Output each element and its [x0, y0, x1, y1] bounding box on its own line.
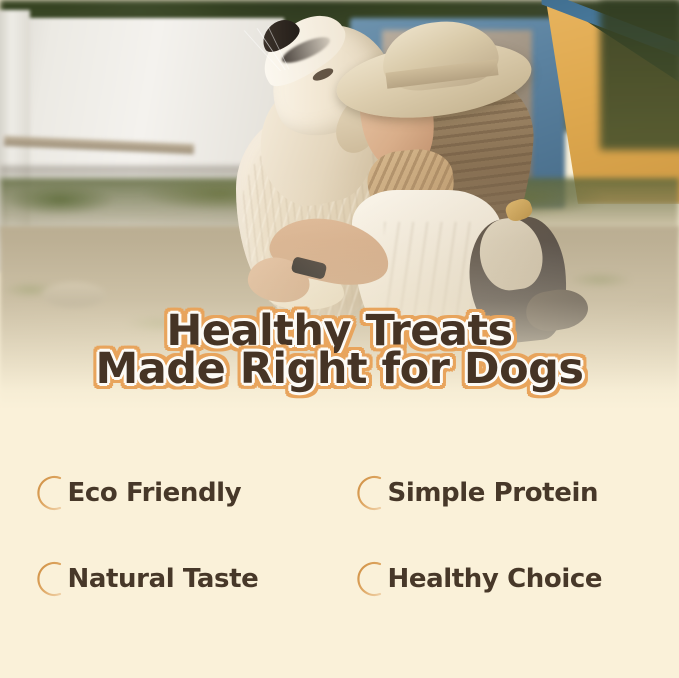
crescent-ring-icon	[350, 556, 390, 602]
headline-line-2: Made Right for Dogs	[0, 350, 679, 390]
promo-banner: Healthy Treats Made Right for Dogs Eco	[0, 0, 679, 678]
feature-item-healthy-choice: Healthy Choice	[350, 536, 650, 622]
feature-label: Eco Friendly	[68, 478, 242, 508]
feature-label: Simple Protein	[388, 478, 599, 508]
feature-label: Natural Taste	[68, 564, 259, 594]
woman-subject	[330, 22, 590, 322]
headline: Healthy Treats Made Right for Dogs	[0, 312, 679, 389]
crescent-ring-icon	[350, 470, 390, 516]
feature-item-natural-taste: Natural Taste	[30, 536, 330, 622]
background-rock	[42, 282, 106, 308]
background-trees-right	[600, 0, 679, 150]
crescent-ring-icon	[30, 470, 70, 516]
crescent-ring-icon	[30, 556, 70, 602]
feature-item-eco-friendly: Eco Friendly	[30, 450, 330, 536]
feature-list: Eco Friendly Simple Protein Natural Tast…	[0, 450, 679, 622]
feature-label: Healthy Choice	[388, 564, 603, 594]
feature-item-simple-protein: Simple Protein	[350, 450, 650, 536]
